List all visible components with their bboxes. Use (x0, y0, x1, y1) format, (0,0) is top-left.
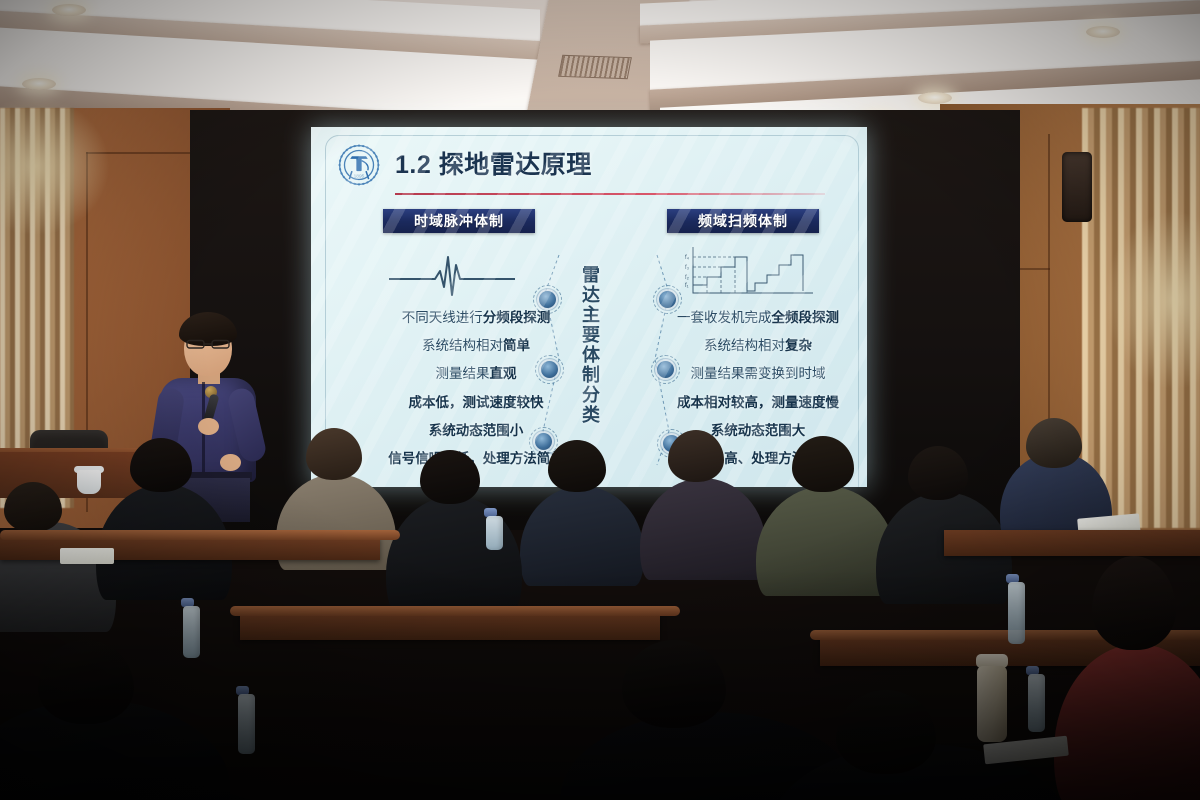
svg-text:1895: 1895 (354, 173, 365, 179)
desk-rail-back (0, 530, 400, 540)
water-bottle (183, 606, 200, 658)
line-bold: 系统动态范围小 (429, 423, 524, 438)
university-gear-emblem: 1895 (337, 143, 381, 187)
stepped-frequency-sweep-chart: f₁f₂ f₃f₄ (681, 245, 815, 299)
svg-text:f₁: f₁ (685, 283, 689, 289)
paper-sheet (60, 548, 114, 564)
line-plain: 系统结构相对 (422, 338, 503, 353)
attendee-front-left-grey-head (4, 482, 62, 532)
thermos-flask (977, 666, 1007, 742)
badge-frequency-domain: 频域扫频体制 (667, 209, 819, 233)
water-bottle (486, 516, 503, 550)
presenter-hand-rest (220, 454, 241, 471)
desk-row-mid (240, 612, 660, 640)
slide-title: 1.2 探地雷达原理 (395, 145, 592, 181)
attendee-row2-black-c-head (908, 446, 968, 500)
line-bold: 复杂 (785, 338, 812, 353)
teacup (77, 470, 101, 494)
air-vent-grille (558, 55, 632, 79)
ceiling-downlight (52, 4, 86, 16)
line-plain: 测量结果需变换到时域 (691, 366, 826, 381)
line-bold: 直观 (490, 366, 517, 381)
attendee-side-table-navy-head (1026, 418, 1082, 468)
water-bottle (1008, 582, 1025, 644)
line-bold: 信号信噪比低，处理方法简单 (388, 451, 564, 466)
diagram-node (659, 291, 676, 308)
line-plain: 一套收发机完成 (677, 310, 772, 325)
water-bottle (1028, 674, 1045, 732)
water-bottle (238, 694, 255, 754)
attendee-front-right-head (836, 690, 936, 774)
line-plain: 测量结果 (436, 366, 490, 381)
title-underline (395, 193, 825, 195)
line-bold: 简单 (503, 338, 530, 353)
attendee-front-left-dark-head (38, 640, 134, 724)
pulse-waveform-icon (387, 253, 517, 297)
attendee-row1-navy-head (548, 440, 606, 492)
svg-text:f₄: f₄ (685, 255, 690, 261)
desk-rail-mid (230, 606, 680, 616)
line-bold: 系统动态范围大 (711, 423, 806, 438)
ceiling-downlight (918, 92, 952, 104)
glasses-icon (186, 339, 230, 349)
attendee-row1-dark-b-head (420, 450, 480, 504)
wall-speaker (1062, 152, 1092, 222)
line-bold: 成本低，测试速度较快 (409, 395, 544, 410)
attendee-row1-black-a-head (130, 438, 192, 492)
attendee-right-maroon (1054, 644, 1200, 800)
attendee-row1-tan-head (306, 428, 362, 480)
diagram-node (539, 291, 556, 308)
attendee-front-center-head (622, 640, 726, 728)
attendee-row2-olive-head (792, 436, 854, 492)
line-plain: 系统结构相对 (704, 338, 785, 353)
line-plain: 不同天线进行 (402, 310, 483, 325)
lecture-hall-photo: 1895 1.2 探地雷达原理 时域脉冲体制 频域扫频体制 f₁f₂ f₃f₄ (0, 0, 1200, 800)
presenter-hand-mic (198, 418, 219, 435)
projection-screen: 1895 1.2 探地雷达原理 时域脉冲体制 频域扫频体制 f₁f₂ f₃f₄ (311, 127, 867, 487)
line-bold: 全频段探测 (772, 310, 840, 325)
attendee-right-maroon-head (1092, 556, 1176, 650)
ceiling-downlight (22, 78, 56, 90)
ceiling-downlight (1086, 26, 1120, 38)
svg-text:f₃: f₃ (685, 265, 690, 271)
svg-text:f₂: f₂ (685, 275, 690, 281)
badge-time-domain: 时域脉冲体制 (383, 209, 535, 233)
line-bold: 分频段探测 (483, 310, 551, 325)
attendee-row1-pink-head (668, 430, 724, 482)
side-desk (944, 530, 1200, 556)
line-bold: 成本相对较高，测量速度慢 (677, 395, 839, 410)
